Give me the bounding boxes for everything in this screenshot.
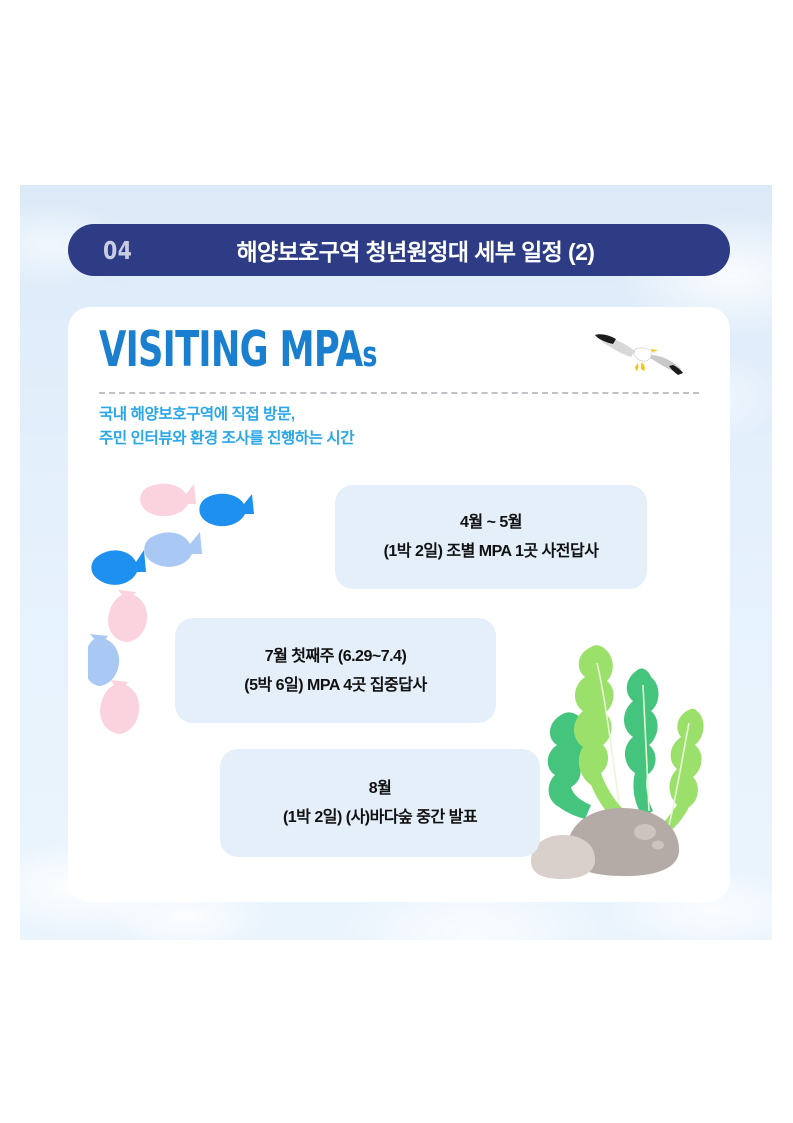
subtitle-line-2: 주민 인터뷰와 환경 조사를 진행하는 시간 — [99, 427, 354, 451]
fish-blue-1 — [199, 494, 254, 526]
section-title: 해양보호구역 청년원정대 세부 일정 (2) — [139, 233, 692, 267]
schedule-card: 8월 (1박 2일) (사)바다숲 중간 발표 — [220, 749, 540, 857]
schedule-period: 8월 — [369, 774, 392, 803]
section-number: 04 — [103, 236, 132, 265]
seaweed-rock-icon — [531, 627, 711, 882]
seagull-icon — [589, 319, 687, 391]
page-title-main: VISITING MPA — [99, 321, 362, 378]
schedule-period: 7월 첫째주 (6.29~7.4) — [265, 642, 407, 671]
content-card: VISITING MPAs 국내 해양보호구역에 직접 방문, 주민 인터뷰와 … — [68, 307, 730, 902]
heading-divider — [99, 392, 699, 394]
section-header-banner: 04 해양보호구역 청년원정대 세부 일정 (2) — [68, 224, 730, 276]
page-title-suffix: s — [362, 335, 376, 375]
schedule-detail: (5박 6일) MPA 4곳 집중답사 — [244, 671, 426, 700]
subtitle-line-1: 국내 해양보호구역에 직접 방문, — [99, 403, 354, 427]
subtitle: 국내 해양보호구역에 직접 방문, 주민 인터뷰와 환경 조사를 진행하는 시간 — [99, 403, 354, 451]
fish-lightblue-1 — [144, 532, 202, 567]
schedule-detail: (1박 2일) 조별 MPA 1곳 사전답사 — [384, 537, 599, 566]
fish-pink-1 — [140, 484, 196, 516]
fish-lightblue-2 — [88, 634, 119, 686]
page-title: VISITING MPAs — [99, 321, 377, 378]
schedule-detail: (1박 2일) (사)바다숲 중간 발표 — [283, 803, 477, 832]
schedule-period: 4월 ~ 5월 — [460, 508, 522, 537]
fish-pink-2 — [108, 590, 147, 642]
schedule-card: 4월 ~ 5월 (1박 2일) 조별 MPA 1곳 사전답사 — [335, 485, 647, 589]
fish-pink-3 — [100, 680, 139, 734]
schedule-card: 7월 첫째주 (6.29~7.4) (5박 6일) MPA 4곳 집중답사 — [175, 618, 496, 723]
fish-blue-2 — [91, 550, 146, 585]
